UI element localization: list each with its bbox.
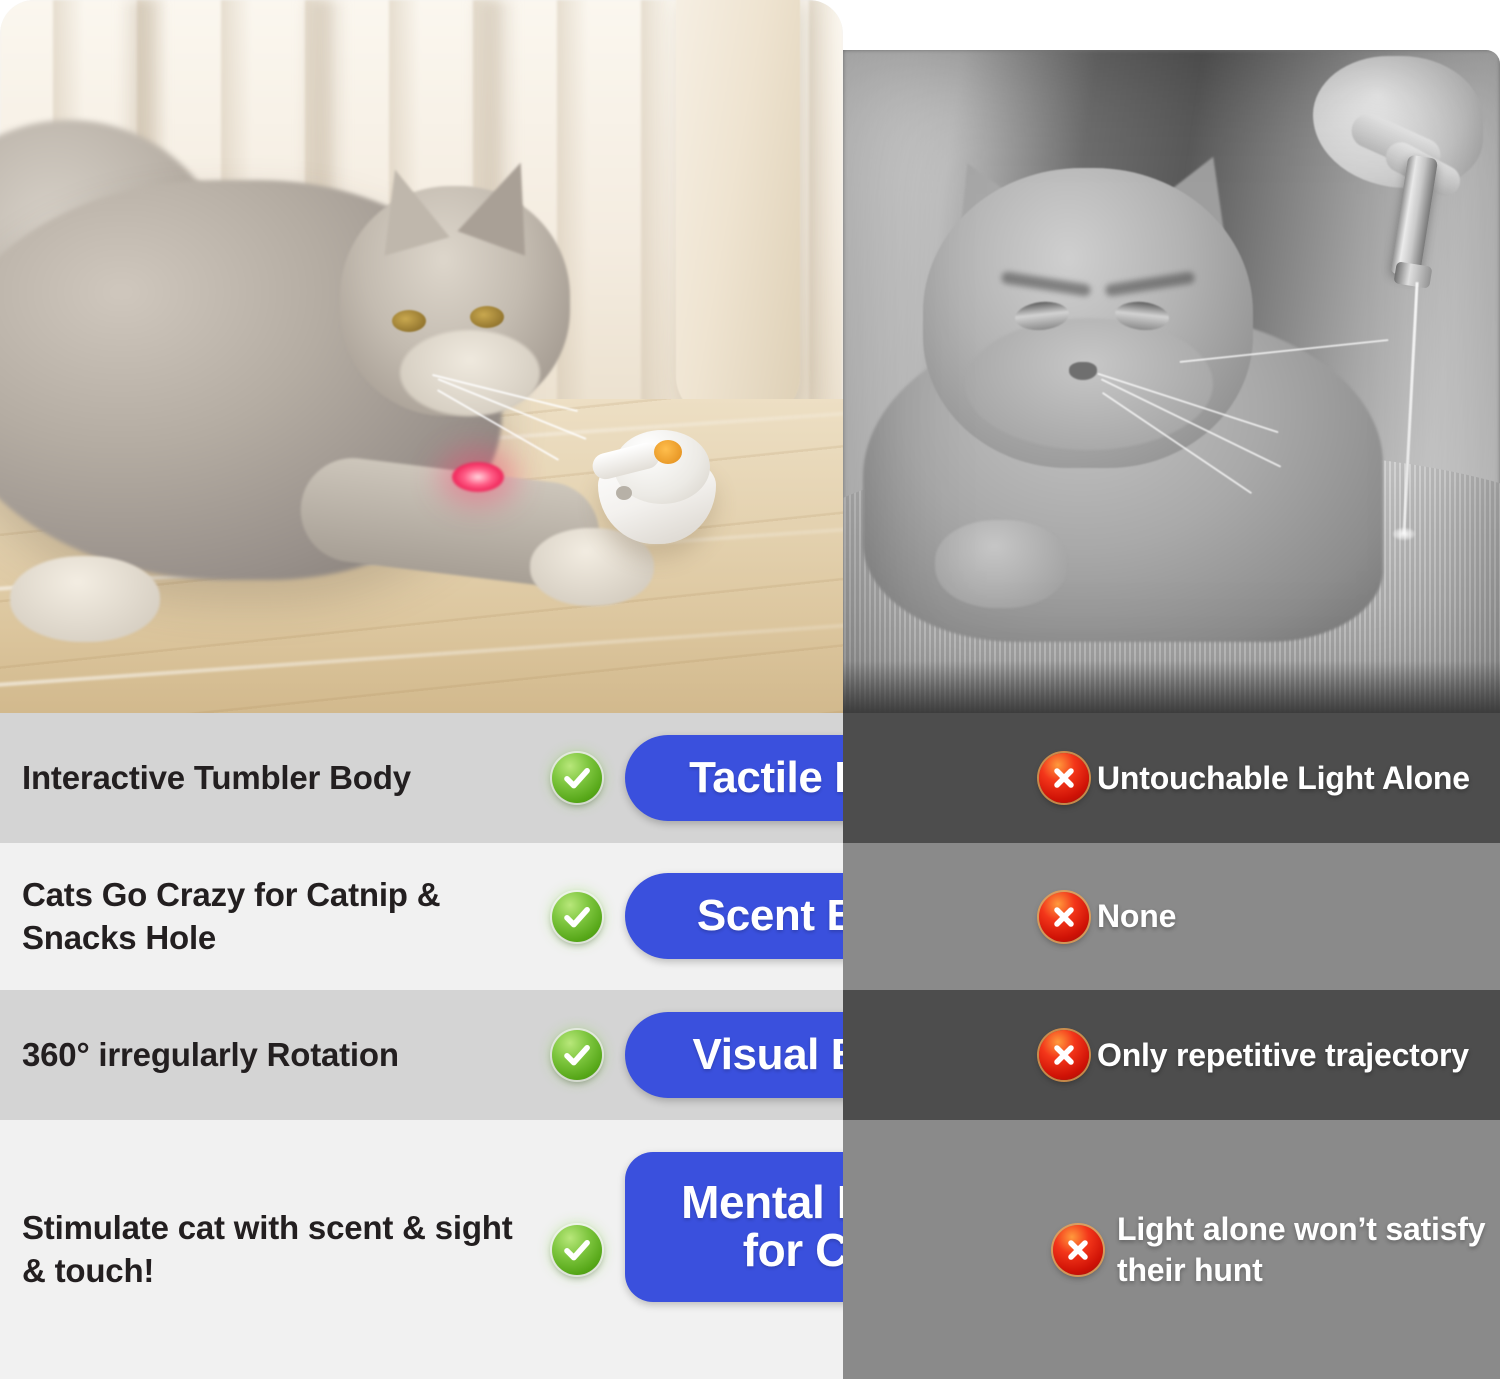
red-x-icon — [1053, 1225, 1103, 1275]
con-label-line-1: Light alone won’t satisfy — [1117, 1209, 1485, 1249]
cat-eye-right — [470, 306, 504, 328]
row-4-con-cell: Light alone won’t satisfy their hunt — [843, 1120, 1500, 1379]
feature-label: Cats Go Crazy for Catnip & Snacks Hole — [22, 874, 542, 960]
cat-back-paw — [10, 556, 160, 642]
red-x-icon — [1039, 1030, 1089, 1080]
row-1-con-cell: Untouchable Light Alone — [843, 713, 1500, 843]
green-check-icon — [552, 1225, 602, 1275]
table-row: Cats Go Crazy for Catnip & Snacks Hole S… — [0, 843, 1500, 990]
green-check-icon — [552, 753, 602, 803]
table-row: Interactive Tumbler Body Tactile Boost U… — [0, 713, 1500, 843]
right-photo-background — [843, 50, 1500, 715]
cat-eye-left — [392, 310, 426, 332]
cat-muzzle — [400, 330, 540, 416]
con-label: Light alone won’t satisfy their hunt — [1117, 1209, 1485, 1290]
con-label: Untouchable Light Alone — [1097, 758, 1470, 798]
green-check-icon — [552, 892, 602, 942]
left-photo-background — [0, 0, 843, 713]
table-row: 360° irregularly Rotation Visual Boost O… — [0, 990, 1500, 1120]
feature-label: Stimulate cat with scent & sight & touch… — [22, 1207, 542, 1293]
red-x-icon — [1039, 892, 1089, 942]
green-check-icon — [552, 1030, 602, 1080]
cat-playing-with-tumbler-toy-photo — [0, 0, 843, 713]
tumbler-toy-snack-hole — [616, 486, 632, 500]
con-label-line-2: their hunt — [1117, 1250, 1485, 1290]
row-3-con-cell: Only repetitive trajectory — [843, 990, 1500, 1120]
bored-cat-with-laser-pointer-photo — [843, 50, 1500, 715]
row-2-con-cell: None — [843, 843, 1500, 990]
con-label: Only repetitive trajectory — [1097, 1035, 1469, 1075]
comparison-infographic: Interactive Tumbler Body Tactile Boost U… — [0, 0, 1500, 1379]
photo-vignette — [843, 50, 1500, 715]
red-laser-dot — [452, 462, 504, 492]
feature-label: Interactive Tumbler Body — [22, 757, 542, 800]
photo-bottom-fade — [843, 661, 1500, 715]
con-label: None — [1097, 896, 1176, 936]
tumbler-toy-eye — [654, 440, 682, 464]
feature-label: 360° irregularly Rotation — [22, 1034, 542, 1077]
table-row: Stimulate cat with scent & sight & touch… — [0, 1120, 1500, 1379]
comparison-table: Interactive Tumbler Body Tactile Boost U… — [0, 713, 1500, 1379]
cat-tree-post — [676, 0, 800, 420]
red-x-icon — [1039, 753, 1089, 803]
